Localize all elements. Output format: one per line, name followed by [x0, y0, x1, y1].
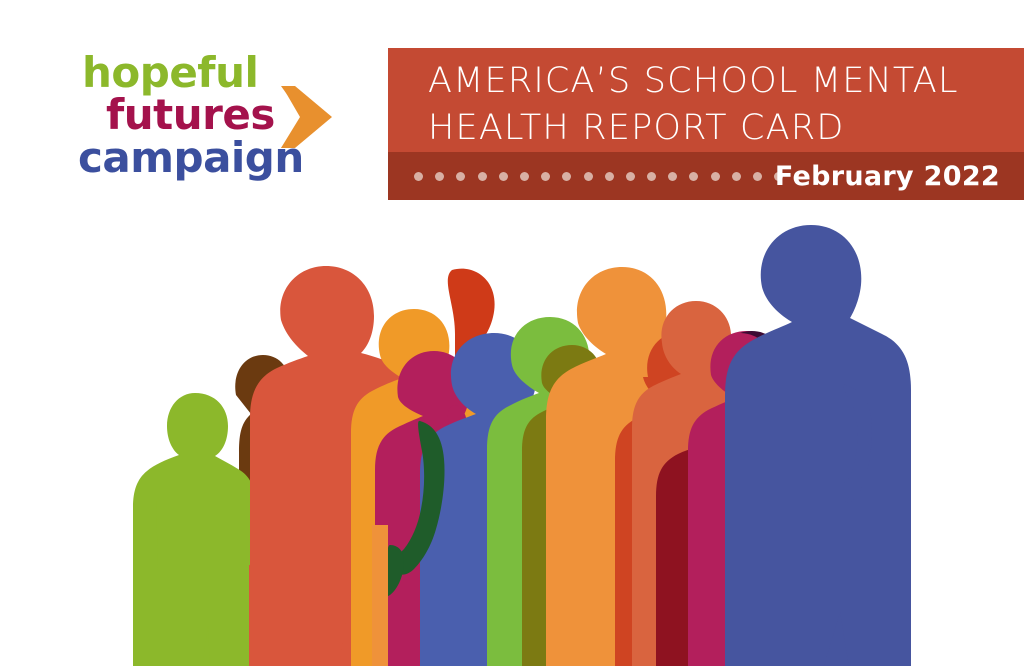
- decorative-dot: [414, 172, 423, 181]
- date-bar: February 2022: [388, 152, 1024, 200]
- page-title-line-1: AMERICA’S SCHOOL MENTAL: [428, 61, 959, 101]
- chevron-right-icon: [278, 84, 338, 152]
- title-banner: AMERICA’S SCHOOL MENTALHEALTH REPORT CAR…: [388, 48, 1024, 200]
- logo-line-futures: futures: [106, 94, 275, 136]
- decorative-dot: [711, 172, 720, 181]
- logo-line-campaign: campaign: [78, 137, 304, 179]
- decorative-dot: [478, 172, 487, 181]
- decorative-dot: [562, 172, 571, 181]
- logo-line-hopeful: hopeful: [82, 52, 258, 94]
- decorative-dot: [456, 172, 465, 181]
- decorative-dot: [689, 172, 698, 181]
- decorative-dot: [435, 172, 444, 181]
- decorative-dot: [584, 172, 593, 181]
- decorative-dot: [499, 172, 508, 181]
- decorative-dot: [732, 172, 741, 181]
- dot-decoration: [414, 152, 783, 200]
- page-title: AMERICA’S SCHOOL MENTALHEALTH REPORT CAR…: [428, 58, 1008, 152]
- decorative-dot: [668, 172, 677, 181]
- decorative-dot: [541, 172, 550, 181]
- silhouette-group-svg: [0, 225, 1024, 666]
- hopeful-futures-campaign-logo: hopeful futures campaign: [78, 52, 378, 192]
- report-cover-page: hopeful futures campaign AMERICA’S SCHOO…: [0, 0, 1024, 666]
- publication-date: February 2022: [775, 152, 1000, 200]
- students-illustration: [0, 225, 1024, 666]
- figure-orange-sliver: [372, 525, 388, 666]
- decorative-dot: [605, 172, 614, 181]
- figure-green-left: [133, 393, 255, 666]
- page-title-line-2: HEALTH REPORT CARD: [428, 108, 845, 148]
- decorative-dot: [753, 172, 762, 181]
- decorative-dot: [520, 172, 529, 181]
- decorative-dot: [647, 172, 656, 181]
- decorative-dot: [626, 172, 635, 181]
- figure-blue-right: [725, 225, 911, 666]
